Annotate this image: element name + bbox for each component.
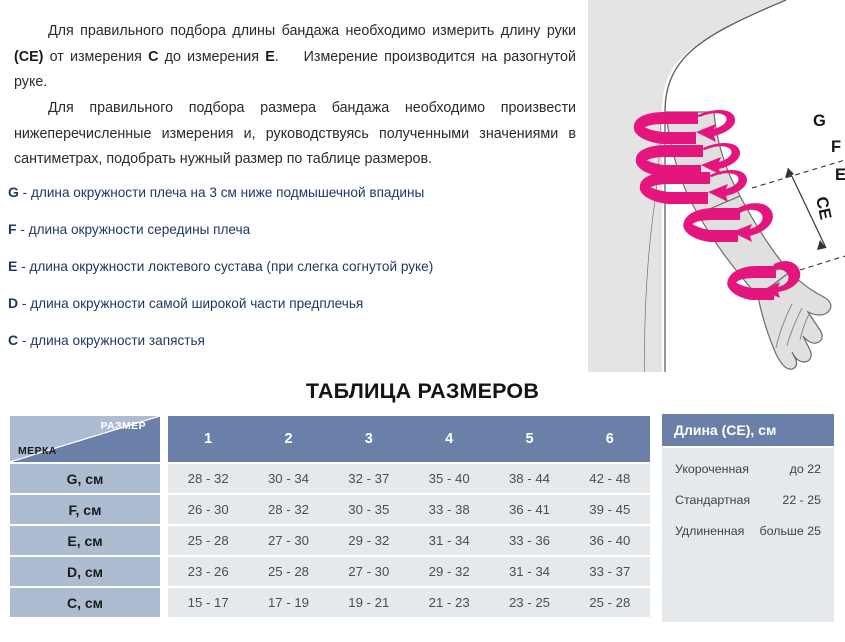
- length-value-short: до 22: [790, 462, 821, 476]
- cell-f-4: 33 - 38: [409, 495, 489, 524]
- text-column: Для правильного подбора длины бандажа не…: [0, 0, 588, 372]
- legend-text-c: - длина окружности запястья: [22, 333, 205, 348]
- legend-item-d: D - длина окружности самой широкой части…: [8, 295, 578, 312]
- cell-e-3: 29 - 32: [329, 526, 409, 555]
- cell-d-6: 33 - 37: [570, 557, 650, 586]
- legend-text-e: - длина окружности локтевого сустава (пр…: [21, 259, 433, 274]
- cell-e-5: 33 - 36: [489, 526, 569, 555]
- intro-paragraph-2: Для правильного подбора размера бандажа …: [14, 96, 576, 173]
- legend-item-f: F - длина окружности середины плеча: [8, 221, 578, 238]
- cell-e-2: 27 - 30: [248, 526, 328, 555]
- table-corner-cell: РАЗМЕР МЕРКА: [10, 416, 160, 462]
- figure-label-g: G: [813, 112, 826, 130]
- length-table-body: Укороченная до 22 Стандартная 22 - 25 Уд…: [662, 448, 834, 622]
- cell-e-1: 25 - 28: [168, 526, 248, 555]
- column-spacer: [160, 557, 168, 586]
- legend-key-e: E: [8, 258, 17, 274]
- cell-g-5: 38 - 44: [489, 464, 569, 493]
- length-table: Длина (CE), см Укороченная до 22 Стандар…: [662, 414, 834, 622]
- table-row: G, см 28 - 32 30 - 34 32 - 37 35 - 40 38…: [10, 464, 650, 493]
- column-spacer: [160, 416, 168, 462]
- legend-text-d: - длина окружности самой широкой части п…: [22, 296, 363, 311]
- ce-extension-line-bottom: [800, 256, 845, 270]
- cell-d-2: 25 - 28: [248, 557, 328, 586]
- cell-g-1: 28 - 32: [168, 464, 248, 493]
- legend-item-g: G - длина окружности плеча на 3 см ниже …: [8, 184, 578, 201]
- table-row: E, см 25 - 28 27 - 30 29 - 32 31 - 34 33…: [10, 526, 650, 555]
- column-spacer: [160, 464, 168, 493]
- length-row-long: Удлиненная больше 25: [675, 524, 821, 538]
- cell-g-4: 35 - 40: [409, 464, 489, 493]
- cell-c-6: 25 - 28: [570, 588, 650, 617]
- legend-text-g: - длина окружности плеча на 3 см ниже по…: [23, 185, 425, 200]
- arm-measurement-figure: G F E D C CE: [588, 0, 845, 372]
- cell-d-3: 27 - 30: [329, 557, 409, 586]
- corner-measure-label: МЕРКА: [18, 445, 57, 457]
- size-table: РАЗМЕР МЕРКА 1 2 3 4 5 6 G, см 28 - 32 3…: [10, 414, 650, 619]
- ce-dimension-label: CE: [812, 195, 834, 221]
- legend-text-f: - длина окружности середины плеча: [20, 222, 250, 237]
- cell-d-1: 23 - 26: [168, 557, 248, 586]
- figure-label-f: F: [831, 138, 841, 156]
- row-label-f: F, см: [10, 495, 160, 524]
- cell-e-6: 36 - 40: [570, 526, 650, 555]
- legend-key-f: F: [8, 221, 17, 237]
- length-row-standard: Стандартная 22 - 25: [675, 493, 821, 507]
- cell-f-5: 36 - 41: [489, 495, 569, 524]
- size-column-3: 3: [329, 416, 409, 462]
- intro-paragraph-1: Для правильного подбора длины бандажа не…: [14, 19, 576, 96]
- table-row: F, см 26 - 30 28 - 32 30 - 35 33 - 38 36…: [10, 495, 650, 524]
- cell-d-4: 29 - 32: [409, 557, 489, 586]
- corner-size-label: РАЗМЕР: [101, 420, 146, 432]
- row-label-c: C, см: [10, 588, 160, 617]
- column-spacer: [160, 526, 168, 555]
- cell-f-6: 39 - 45: [570, 495, 650, 524]
- cell-f-1: 26 - 30: [168, 495, 248, 524]
- cell-g-6: 42 - 48: [570, 464, 650, 493]
- size-column-2: 2: [248, 416, 328, 462]
- size-column-5: 5: [489, 416, 569, 462]
- figure-label-e: E: [835, 166, 845, 184]
- cell-c-5: 23 - 25: [489, 588, 569, 617]
- row-label-g: G, см: [10, 464, 160, 493]
- cell-g-2: 30 - 34: [248, 464, 328, 493]
- length-table-header: Длина (CE), см: [662, 414, 834, 446]
- table-row: C, см 15 - 17 17 - 19 19 - 21 21 - 23 23…: [10, 588, 650, 617]
- ce-extension-line-top: [752, 160, 845, 188]
- length-row-short: Укороченная до 22: [675, 462, 821, 476]
- length-label-long: Удлиненная: [675, 524, 744, 538]
- cell-g-3: 32 - 37: [329, 464, 409, 493]
- column-spacer: [160, 495, 168, 524]
- size-column-4: 4: [409, 416, 489, 462]
- size-column-6: 6: [570, 416, 650, 462]
- page-title: ТАБЛИЦА РАЗМЕРОВ: [0, 379, 845, 404]
- length-label-short: Укороченная: [675, 462, 749, 476]
- legend-key-c: C: [8, 332, 18, 348]
- size-table-header-row: РАЗМЕР МЕРКА 1 2 3 4 5 6: [10, 416, 650, 462]
- length-label-standard: Стандартная: [675, 493, 750, 507]
- cell-d-5: 31 - 34: [489, 557, 569, 586]
- table-row: D, см 23 - 26 25 - 28 27 - 30 29 - 32 31…: [10, 557, 650, 586]
- cell-f-2: 28 - 32: [248, 495, 328, 524]
- cell-c-4: 21 - 23: [409, 588, 489, 617]
- row-label-e: E, см: [10, 526, 160, 555]
- cell-e-4: 31 - 34: [409, 526, 489, 555]
- length-value-standard: 22 - 25: [782, 493, 821, 507]
- legend-item-e: E - длина окружности локтевого сустава (…: [8, 258, 578, 275]
- size-column-1: 1: [168, 416, 248, 462]
- intro-section: Для правильного подбора длины бандажа не…: [0, 0, 845, 372]
- legend-key-d: D: [8, 295, 18, 311]
- legend-item-c: C - длина окружности запястья: [8, 332, 578, 349]
- length-value-long: больше 25: [760, 524, 821, 538]
- legend-key-g: G: [8, 184, 19, 200]
- column-spacer: [160, 588, 168, 617]
- cell-c-3: 19 - 21: [329, 588, 409, 617]
- cell-c-2: 17 - 19: [248, 588, 328, 617]
- cell-c-1: 15 - 17: [168, 588, 248, 617]
- cell-f-3: 30 - 35: [329, 495, 409, 524]
- row-label-d: D, см: [10, 557, 160, 586]
